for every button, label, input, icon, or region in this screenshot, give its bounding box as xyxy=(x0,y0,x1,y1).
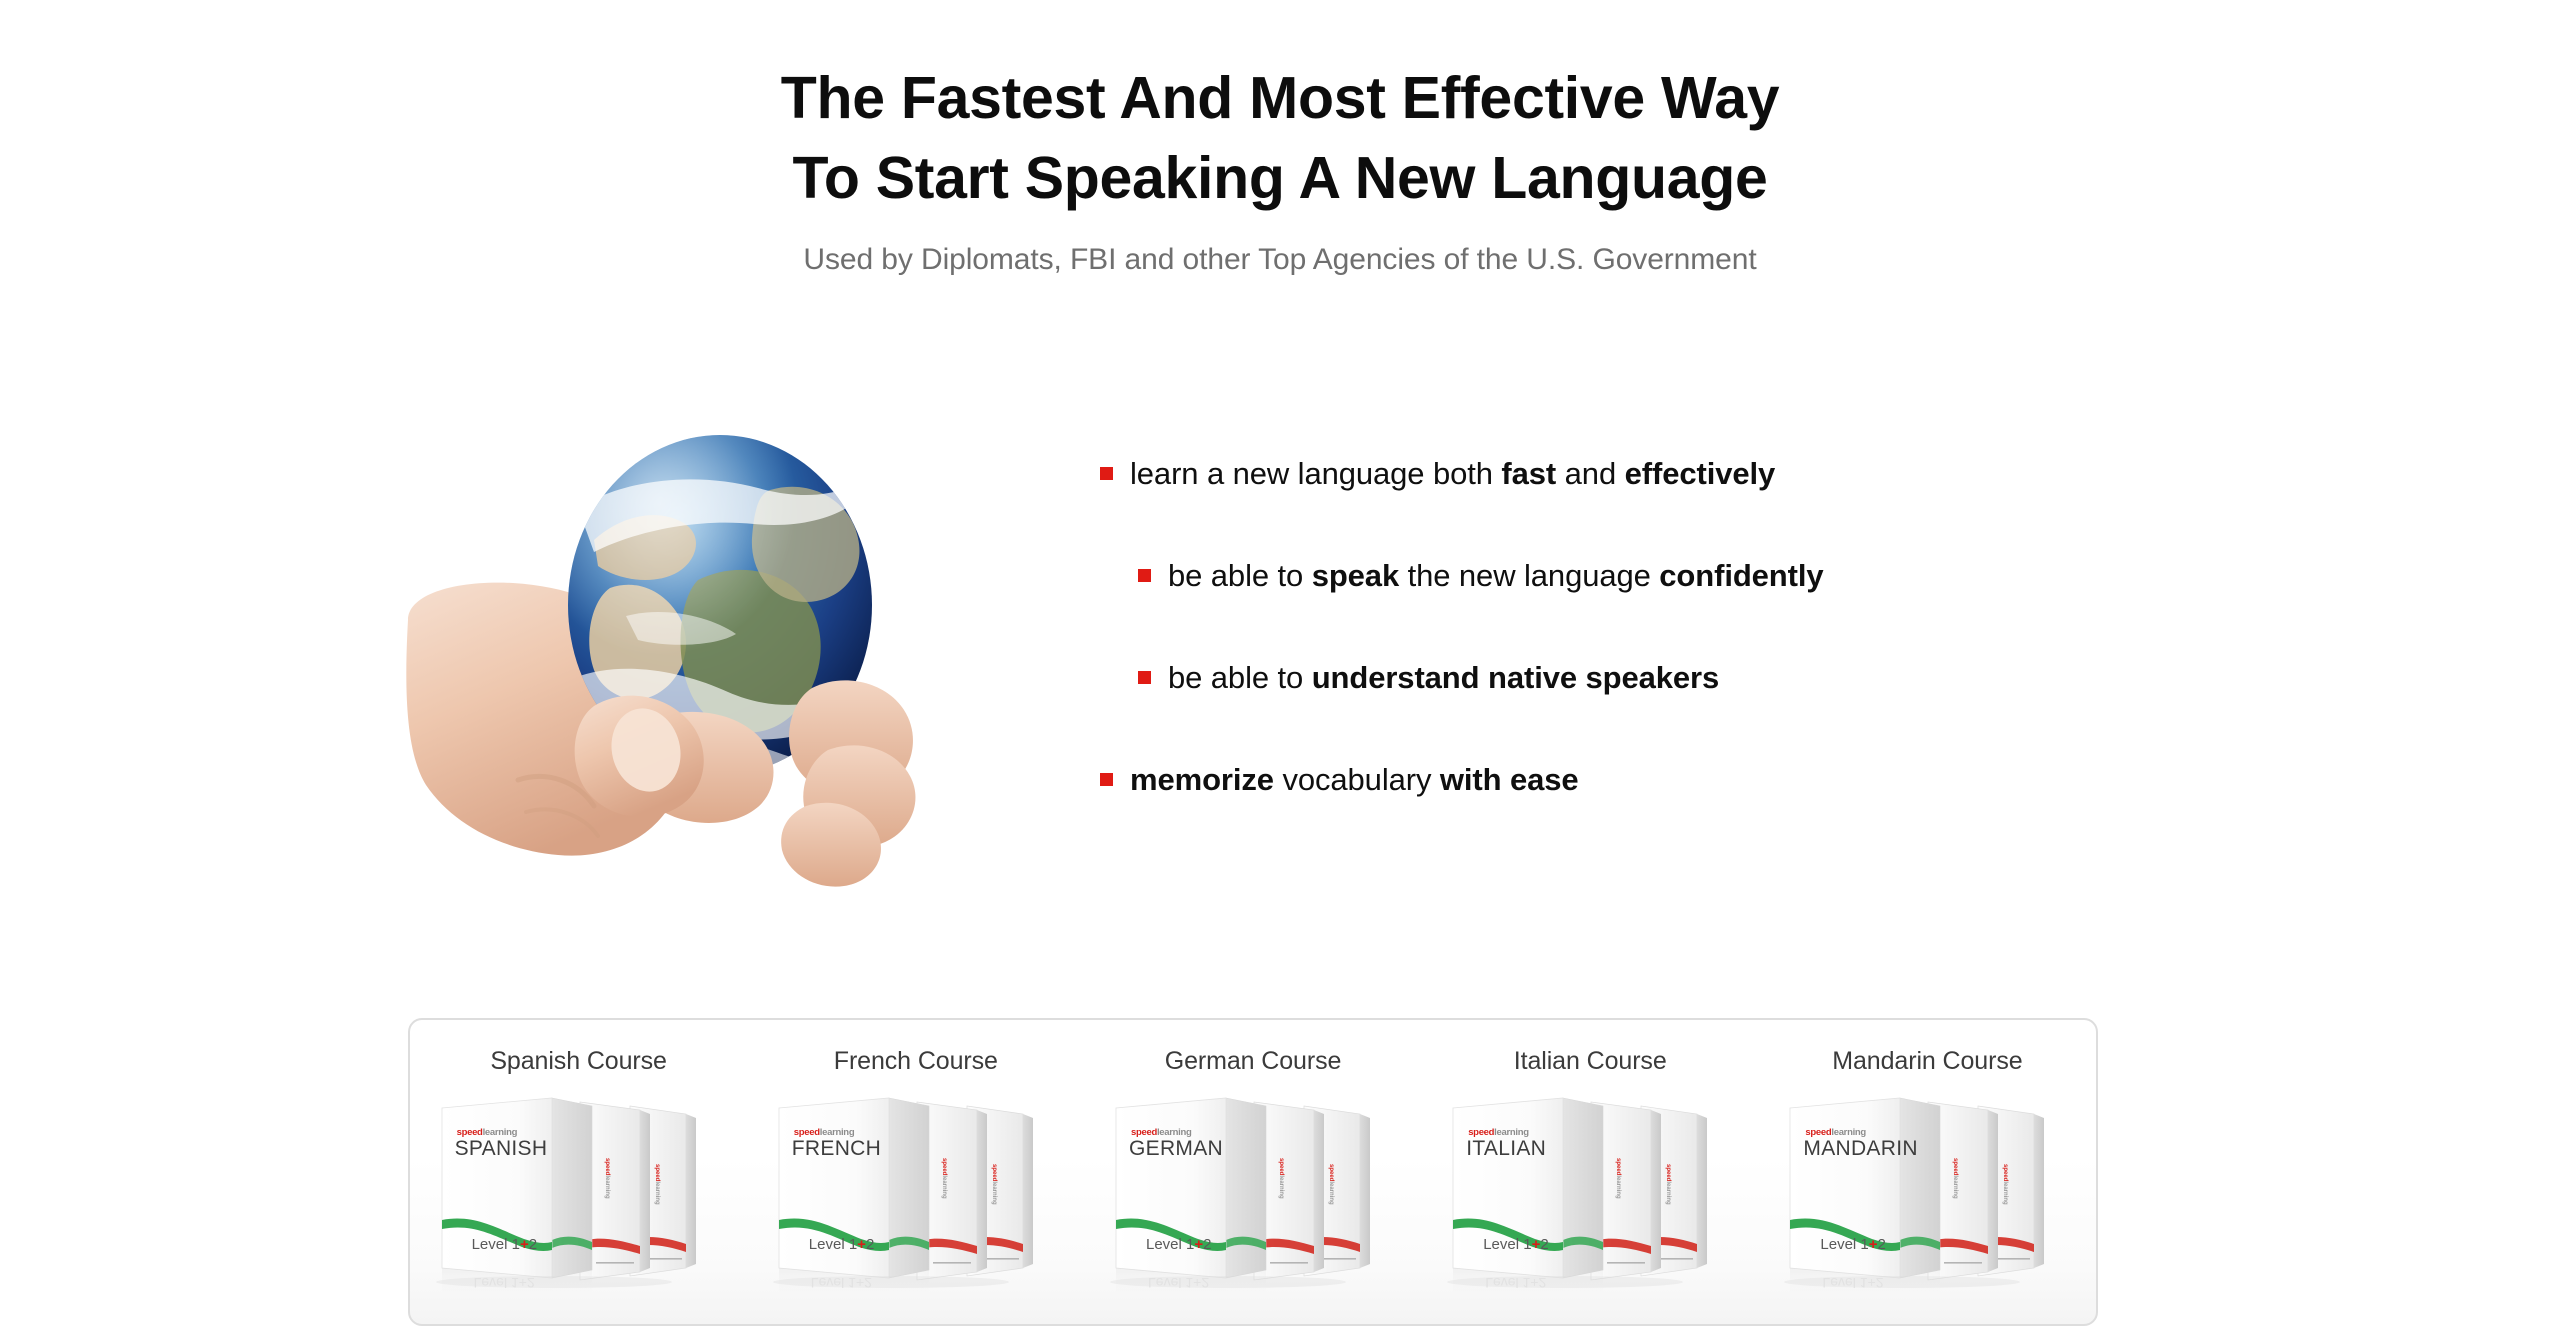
headline-emphasis-most-effective: Most Effective xyxy=(1249,65,1645,131)
product-box-image[interactable]: speedlearningMANDARINLevel 1+2Level 1+2s… xyxy=(1782,1092,2072,1307)
benefit-plain: learn a new language both xyxy=(1130,456,1501,491)
bullet-square-icon xyxy=(1100,773,1113,786)
benefit-item: learn a new language both fast and effec… xyxy=(1100,455,2440,493)
course-showcase-panel: Spanish Course xyxy=(408,1018,2098,1326)
course-card[interactable]: Mandarin Course xyxy=(1759,1020,2096,1324)
product-box-image[interactable]: speedlearningSPANISHLevel 1+2Level 1+2sp… xyxy=(434,1092,724,1307)
benefit-item: be able to understand native speakers xyxy=(1100,659,2440,697)
benefit-emphasis: speak xyxy=(1312,558,1399,593)
course-grid: Spanish Course xyxy=(410,1020,2096,1324)
benefits-list: learn a new language both fast and effec… xyxy=(1100,455,2440,799)
benefit-plain: and xyxy=(1556,456,1624,491)
landing-page: The Fastest And Most Effective Way To St… xyxy=(0,0,2560,1328)
benefit-text: be able to speak the new language confid… xyxy=(1168,557,1824,595)
course-title: Mandarin Course xyxy=(1759,1046,2096,1076)
course-card[interactable]: Italian Course xyxy=(1422,1020,1759,1324)
benefit-emphasis: understand native speakers xyxy=(1312,660,1719,695)
product-box-image[interactable]: speedlearningFRENCHLevel 1+2Level 1+2spe… xyxy=(771,1092,1061,1307)
benefit-emphasis: fast xyxy=(1501,456,1556,491)
benefit-plain: vocabulary xyxy=(1274,762,1440,797)
product-box-image[interactable]: speedlearningITALIANLevel 1+2Level 1+2sp… xyxy=(1445,1092,1735,1307)
course-title: Italian Course xyxy=(1422,1046,1759,1076)
benefit-plain: the new language xyxy=(1399,558,1659,593)
headline-part-1: The xyxy=(781,65,901,131)
product-box-image[interactable]: speedlearningGERMANLevel 1+2Level 1+2spe… xyxy=(1108,1092,1398,1307)
page-title-line-2: To Start Speaking A New Language xyxy=(0,138,2560,218)
headline-emphasis-fastest: Fastest xyxy=(901,65,1106,131)
page-title: The Fastest And Most Effective Way xyxy=(0,58,2560,138)
page-subtitle: Used by Diplomats, FBI and other Top Age… xyxy=(0,240,2560,280)
course-card[interactable]: Spanish Course xyxy=(410,1020,747,1324)
hero-body: learn a new language both fast and effec… xyxy=(0,400,2560,910)
bullet-square-icon xyxy=(1138,569,1151,582)
course-title: French Course xyxy=(747,1046,1084,1076)
benefit-text: memorize vocabulary with ease xyxy=(1130,761,1579,799)
hero-header: The Fastest And Most Effective Way To St… xyxy=(0,58,2560,280)
benefit-plain: be able to xyxy=(1168,660,1312,695)
benefit-emphasis: memorize xyxy=(1130,762,1274,797)
bullet-square-icon xyxy=(1100,467,1113,480)
benefit-text: be able to understand native speakers xyxy=(1168,659,1719,697)
benefit-item: memorize vocabulary with ease xyxy=(1100,761,2440,799)
bullet-square-icon xyxy=(1138,671,1151,684)
benefit-text: learn a new language both fast and effec… xyxy=(1130,455,1775,493)
benefit-emphasis: effectively xyxy=(1625,456,1776,491)
hand-holding-globe-image xyxy=(398,420,1038,890)
benefit-item: be able to speak the new language confid… xyxy=(1100,557,2440,595)
benefit-plain: be able to xyxy=(1168,558,1312,593)
course-card[interactable]: French Course xyxy=(747,1020,1084,1324)
course-title: Spanish Course xyxy=(410,1046,747,1076)
course-title: German Course xyxy=(1084,1046,1421,1076)
headline-part-3: Way xyxy=(1645,65,1779,131)
headline-part-2: And xyxy=(1105,65,1249,131)
course-card[interactable]: German Course xyxy=(1084,1020,1421,1324)
benefit-emphasis: confidently xyxy=(1659,558,1823,593)
benefit-emphasis: with ease xyxy=(1440,762,1579,797)
